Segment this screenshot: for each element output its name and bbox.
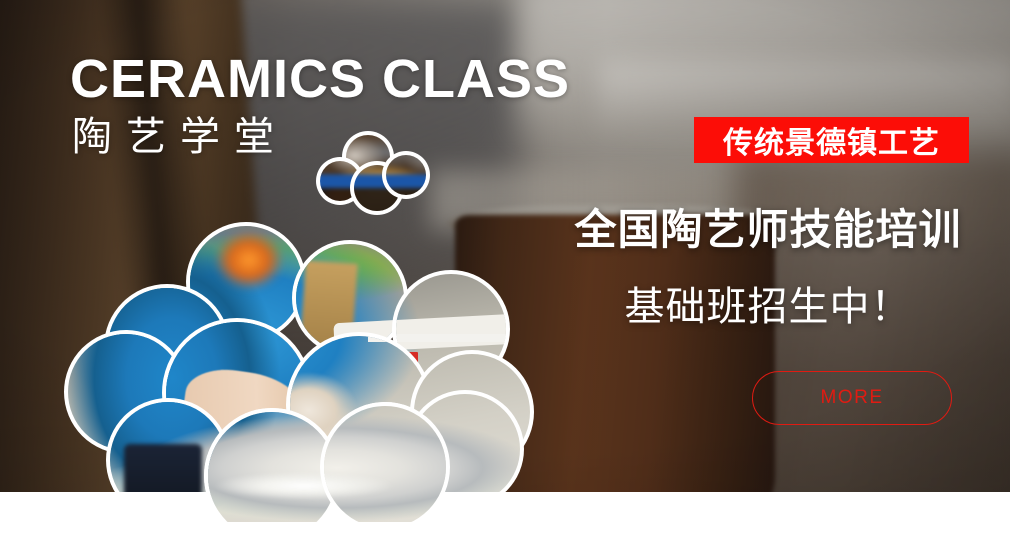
small-cloud-image	[316, 131, 430, 215]
title-english: CERAMICS CLASS	[70, 52, 570, 106]
cloud-bubble-photo	[324, 406, 446, 528]
large-cloud-image-overlap	[64, 222, 534, 522]
wheel-photo	[208, 412, 336, 522]
ceramics-class-banner: CERAMICS CLASS 陶艺学堂	[0, 0, 1010, 538]
shelf-photo	[386, 155, 426, 195]
clay-splash	[324, 472, 394, 518]
clay-splash	[214, 472, 336, 518]
cloud-bubble-photo	[386, 155, 426, 195]
cloud-bubble	[382, 151, 430, 199]
wheel-photo	[324, 406, 446, 522]
headline-text: 全国陶艺师技能培训	[568, 196, 968, 257]
cloud-bubble-photo	[208, 412, 336, 538]
cloud-bubble	[320, 402, 450, 532]
traditional-craft-badge: 传统景德镇工艺	[694, 117, 969, 163]
title-chinese: 陶艺学堂	[72, 114, 288, 160]
subline-text: 基础班招生中！	[568, 274, 968, 332]
more-button[interactable]: MORE	[752, 371, 952, 425]
